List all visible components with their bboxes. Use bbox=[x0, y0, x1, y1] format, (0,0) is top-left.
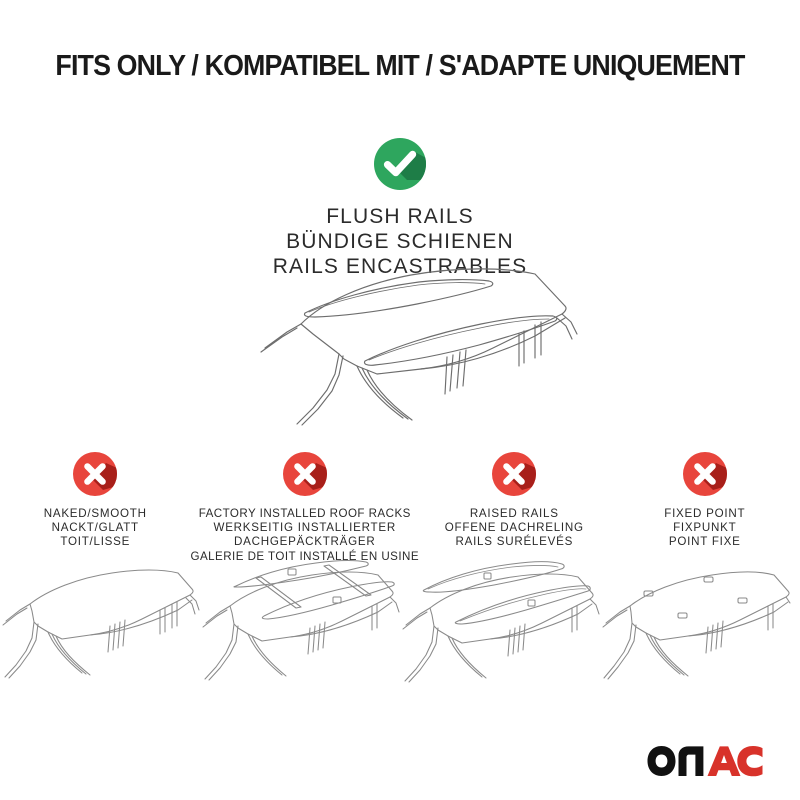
car-roof-naked-illustration bbox=[0, 556, 200, 686]
car-roof-naked-svg bbox=[0, 556, 200, 686]
incompatible-labels: NAKED/SMOOTH NACKT/GLATT TOIT/LISSE bbox=[0, 507, 190, 550]
check-circle-icon bbox=[374, 138, 426, 190]
x-circle-icon bbox=[73, 452, 117, 496]
incompatible-section: NAKED/SMOOTH NACKT/GLATT TOIT/LISSE FACT… bbox=[0, 452, 800, 564]
incompatible-label-de-2: DACHGEPÄCKTRÄGER bbox=[190, 535, 419, 549]
incompatible-item-raised-rails: RAISED RAILS OFFENE DACHRELING RAILS SUR… bbox=[419, 452, 609, 564]
car-roof-factory-rack-illustration bbox=[200, 556, 400, 686]
car-roof-fixed-point-illustration bbox=[600, 556, 800, 686]
car-roof-flush-rails-illustration bbox=[235, 262, 585, 442]
compatible-section: FLUSH RAILS BÜNDIGE SCHIENEN RAILS ENCAS… bbox=[0, 138, 800, 279]
car-roof-raised-rails-svg bbox=[400, 556, 600, 686]
page-title: FITS ONLY / KOMPATIBEL MIT / S'ADAPTE UN… bbox=[24, 50, 776, 83]
incompatible-label-de: FIXPUNKT bbox=[610, 521, 800, 535]
incompatible-item-factory-roof-racks: FACTORY INSTALLED ROOF RACKS WERKSEITIG … bbox=[190, 452, 419, 564]
x-circle-icon bbox=[492, 452, 536, 496]
incompatible-label-en: FACTORY INSTALLED ROOF RACKS bbox=[190, 507, 419, 521]
incompatible-labels: FIXED POINT FIXPUNKT POINT FIXE bbox=[610, 507, 800, 550]
incompatible-label-fr: POINT FIXE bbox=[610, 535, 800, 549]
car-roof-factory-rack-svg bbox=[200, 556, 400, 686]
compatible-label-en: FLUSH RAILS bbox=[0, 204, 800, 229]
compatible-label-de: BÜNDIGE SCHIENEN bbox=[0, 229, 800, 254]
incompatible-labels: RAISED RAILS OFFENE DACHRELING RAILS SUR… bbox=[419, 507, 609, 550]
car-roof-flush-rails-svg bbox=[235, 262, 585, 442]
incompatible-item-fixed-point: FIXED POINT FIXPUNKT POINT FIXE bbox=[610, 452, 800, 564]
incompatible-label-de-1: WERKSEITIG INSTALLIERTER bbox=[190, 521, 419, 535]
incompatible-label-fr: RAILS SURÉLEVÉS bbox=[419, 535, 609, 549]
car-roof-raised-rails-illustration bbox=[400, 556, 600, 686]
x-glyph bbox=[283, 452, 327, 496]
car-roof-fixed-point-svg bbox=[600, 556, 790, 686]
x-glyph bbox=[73, 452, 117, 496]
incompatible-label-de: OFFENE DACHRELING bbox=[419, 521, 609, 535]
incompatible-label-de: NACKT/GLATT bbox=[0, 521, 190, 535]
x-circle-icon bbox=[683, 452, 727, 496]
x-glyph bbox=[492, 452, 536, 496]
infographic-page: FITS ONLY / KOMPATIBEL MIT / S'ADAPTE UN… bbox=[0, 0, 800, 800]
omac-logo-svg bbox=[646, 744, 764, 778]
incompatible-label-en: FIXED POINT bbox=[610, 507, 800, 521]
incompatible-item-naked-smooth: NAKED/SMOOTH NACKT/GLATT TOIT/LISSE bbox=[0, 452, 190, 564]
incompatible-label-fr: TOIT/LISSE bbox=[0, 535, 190, 549]
x-glyph bbox=[683, 452, 727, 496]
incompatible-label-en: RAISED RAILS bbox=[419, 507, 609, 521]
x-circle-icon bbox=[283, 452, 327, 496]
omac-logo bbox=[646, 744, 764, 778]
check-glyph bbox=[374, 138, 426, 190]
incompatible-label-en: NAKED/SMOOTH bbox=[0, 507, 190, 521]
incompatible-illustrations bbox=[0, 556, 800, 686]
